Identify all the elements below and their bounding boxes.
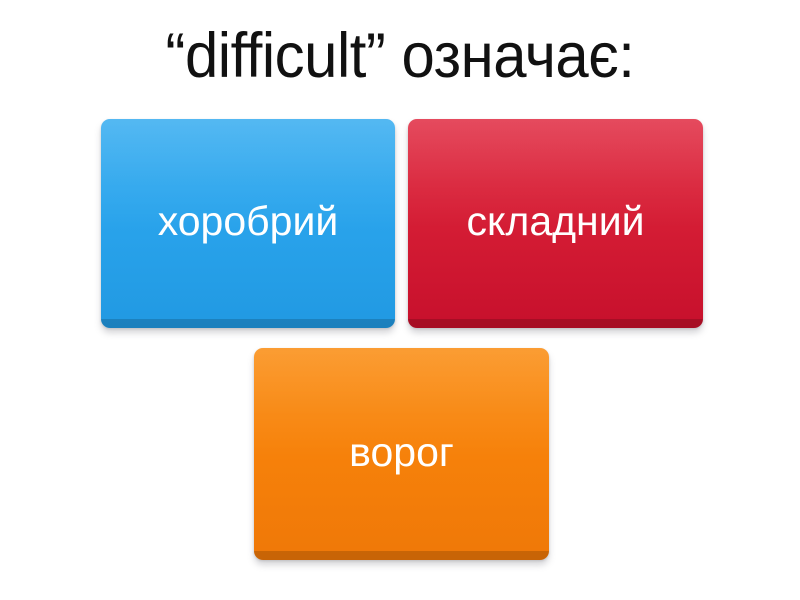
answer-option-red-label: складний [467, 201, 645, 242]
answer-option-orange-label: ворог [349, 432, 454, 473]
question-title: “difficult” означає: [20, 14, 780, 98]
quiz-screen: “difficult” означає: хоробрий складний в… [0, 0, 800, 600]
answer-option-orange[interactable]: ворог [254, 348, 549, 560]
answer-option-blue[interactable]: хоробрий [101, 119, 395, 328]
answer-option-red[interactable]: складний [408, 119, 703, 328]
answer-option-blue-label: хоробрий [158, 201, 339, 242]
